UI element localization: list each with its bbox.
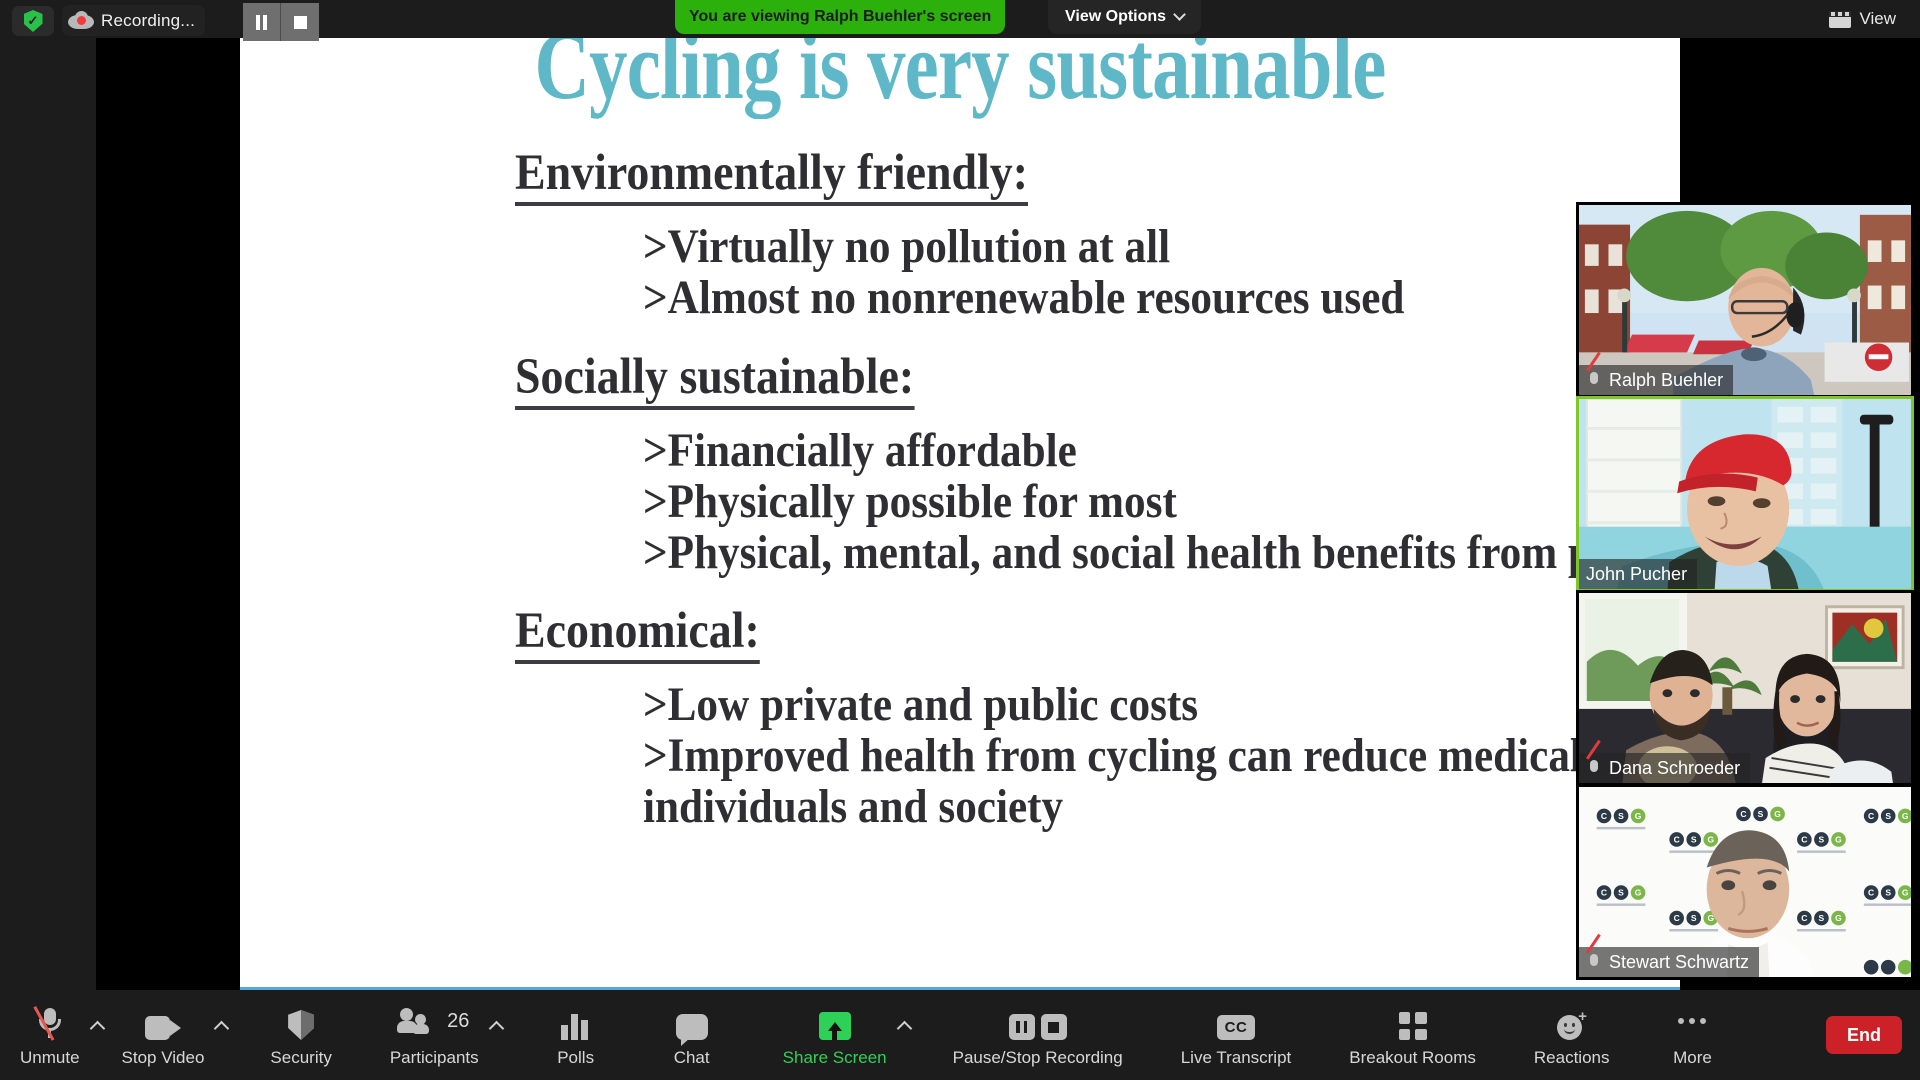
toolbar-label-unmute: Unmute (20, 1048, 80, 1068)
recording-controls[interactable] (243, 3, 319, 41)
bar-chart-icon (561, 1014, 591, 1040)
svg-text:G: G (1902, 811, 1909, 821)
recording-label: Recording... (101, 11, 195, 31)
smiley-plus-icon: + (1557, 1012, 1587, 1040)
chevron-up-icon (214, 1020, 230, 1036)
screen-share-banner: You are viewing Ralph Buehler's screen (675, 0, 1005, 34)
toolbar-button-polls[interactable]: Polls (545, 990, 607, 1080)
svg-text:G: G (1774, 809, 1781, 819)
participant-tile-dana-schroeder[interactable]: Dana Schroeder (1576, 590, 1914, 786)
svg-text:G: G (1902, 888, 1909, 898)
participant-tile-stewart-schwartz[interactable]: C S G C S G C S (1576, 784, 1914, 980)
toolbar-button-reactions[interactable]: + Reactions (1528, 990, 1616, 1080)
participant-name-badge: Dana Schroeder (1579, 753, 1750, 783)
recording-stop-button[interactable] (281, 3, 319, 41)
share-options-caret[interactable] (893, 990, 923, 1080)
toolbar-label-reactions: Reactions (1534, 1048, 1610, 1068)
toolbar-label-pause-stop-recording: Pause/Stop Recording (953, 1048, 1123, 1068)
participant-name: Ralph Buehler (1609, 370, 1723, 391)
slide-heading-economical: Economical: (515, 606, 760, 664)
video-options-caret[interactable] (210, 990, 240, 1080)
share-screen-icon (819, 1012, 851, 1040)
svg-text:C: C (1740, 809, 1746, 819)
participant-name-badge: John Pucher (1579, 559, 1697, 589)
participant-name: Dana Schroeder (1609, 758, 1740, 779)
participant-tile-john-pucher[interactable]: John Pucher (1576, 396, 1914, 592)
svg-text:G: G (1635, 811, 1642, 821)
svg-text:S: S (1618, 888, 1624, 898)
shared-slide: Cycling is very sustainable Environmenta… (240, 0, 1680, 990)
toolbar-label-breakout-rooms: Breakout Rooms (1349, 1048, 1476, 1068)
view-button-label: View (1859, 9, 1896, 29)
slide-body: Environmentally friendly: >Virtually no … (515, 148, 1680, 833)
slide-bullet: >Physical, mental, and social health ben… (643, 528, 1680, 579)
layout-grid-icon (1829, 11, 1851, 28)
pause-stop-icon (1009, 1014, 1067, 1040)
svg-text:C: C (1801, 835, 1807, 845)
participant-tile-ralph-buehler[interactable]: Ralph Buehler (1576, 202, 1914, 398)
camera-icon (145, 1016, 181, 1040)
svg-text:C: C (1868, 888, 1874, 898)
svg-text:C: C (1601, 888, 1607, 898)
toolbar-button-unmute[interactable]: Unmute (14, 990, 86, 1080)
slide-bullet: >Low private and public costs (643, 680, 1680, 731)
end-button-label: End (1847, 1025, 1881, 1046)
svg-text:S: S (1885, 888, 1891, 898)
mic-muted-icon (37, 1006, 63, 1040)
svg-text:S: S (1819, 835, 1825, 845)
svg-text:G: G (1835, 913, 1842, 923)
toolbar-button-participants[interactable]: 26 Participants (384, 990, 485, 1080)
svg-text:C: C (1674, 835, 1680, 845)
toolbar-button-pause-stop-recording[interactable]: Pause/Stop Recording (947, 990, 1129, 1080)
participant-name: John Pucher (1586, 564, 1687, 585)
toolbar-label-share-screen: Share Screen (783, 1048, 887, 1068)
slide-bullet: >Physically possible for most (643, 477, 1680, 528)
toolbar-label-more: More (1673, 1048, 1712, 1068)
closed-caption-icon: CC (1217, 1015, 1255, 1040)
svg-text:S: S (1691, 913, 1697, 923)
toolbar-button-more[interactable]: More (1662, 990, 1724, 1080)
mic-muted-icon (1586, 953, 1603, 972)
toolbar-button-chat[interactable]: Chat (661, 990, 723, 1080)
participant-name-badge: Ralph Buehler (1579, 365, 1733, 395)
view-options-button[interactable]: View Options (1048, 0, 1201, 34)
toolbar-label-chat: Chat (674, 1048, 710, 1068)
toolbar-label-security: Security (270, 1048, 331, 1068)
participant-filmstrip[interactable]: Ralph Buehler (1576, 202, 1914, 978)
slide-bullet: >Virtually no pollution at all (643, 222, 1680, 273)
chevron-up-icon (488, 1020, 504, 1036)
toolbar-label-live-transcript: Live Transcript (1181, 1048, 1292, 1068)
people-icon (399, 1008, 439, 1034)
shield-check-icon (24, 10, 43, 32)
svg-text:G: G (1835, 835, 1842, 845)
audio-options-caret[interactable] (86, 990, 116, 1080)
participant-name-badge: Stewart Schwartz (1579, 947, 1759, 977)
grid-rooms-icon (1399, 1012, 1427, 1040)
screen-share-banner-text: You are viewing Ralph Buehler's screen (689, 8, 991, 26)
slide-heading-social: Socially sustainable: (515, 352, 914, 410)
svg-text:G: G (1707, 835, 1714, 845)
meeting-controls-toolbar: Unmute Stop Video Security 26 Participan… (0, 990, 1920, 1080)
view-layout-button[interactable]: View (1819, 4, 1906, 34)
chat-bubble-icon (676, 1014, 708, 1040)
participants-count: 26 (447, 1010, 469, 1033)
slide-heading-environmental: Environmentally friendly: (515, 148, 1028, 206)
stop-icon (294, 16, 307, 29)
cloud-recording-icon (68, 11, 94, 31)
recording-indicator[interactable]: Recording... (62, 5, 205, 36)
end-meeting-button[interactable]: End (1826, 1016, 1902, 1054)
svg-text:S: S (1691, 835, 1697, 845)
view-options-label: View Options (1065, 8, 1166, 26)
mic-muted-icon (1586, 759, 1603, 778)
shield-icon (288, 1010, 314, 1040)
svg-text:C: C (1868, 811, 1874, 821)
toolbar-label-stop-video: Stop Video (122, 1048, 205, 1068)
svg-text:S: S (1885, 811, 1891, 821)
svg-text:S: S (1618, 811, 1624, 821)
participant-name: Stewart Schwartz (1609, 952, 1749, 973)
svg-text:C: C (1674, 913, 1680, 923)
slide-bullet: >Almost no nonrenewable resources used (643, 273, 1680, 324)
svg-text:C: C (1801, 913, 1807, 923)
pause-icon (255, 15, 268, 30)
participants-options-caret[interactable] (485, 990, 515, 1080)
meeting-top-bar: Recording... You are viewing Ralph Buehl… (0, 0, 1920, 38)
toolbar-button-breakout-rooms[interactable]: Breakout Rooms (1343, 990, 1482, 1080)
toolbar-label-participants: Participants (390, 1048, 479, 1068)
encryption-badge[interactable] (12, 6, 54, 36)
slide-bullet: >Financially affordable (643, 426, 1680, 477)
zoom-meeting-window: Cycling is very sustainable Environmenta… (0, 0, 1920, 1080)
chevron-up-icon (896, 1020, 912, 1036)
mic-muted-icon (1586, 371, 1603, 390)
toolbar-button-share-screen[interactable]: Share Screen (777, 990, 893, 1080)
chevron-up-icon (89, 1020, 105, 1036)
recording-pause-button[interactable] (243, 3, 281, 41)
stage-left-gutter (0, 0, 96, 990)
svg-text:S: S (1758, 809, 1764, 819)
svg-text:G: G (1635, 888, 1642, 898)
toolbar-button-stop-video[interactable]: Stop Video (116, 990, 211, 1080)
toolbar-button-security[interactable]: Security (264, 990, 337, 1080)
toolbar-button-live-transcript[interactable]: CC Live Transcript (1175, 990, 1298, 1080)
svg-text:S: S (1819, 913, 1825, 923)
ellipsis-icon (1678, 1017, 1708, 1025)
svg-text:C: C (1601, 811, 1607, 821)
slide-bullet: >Improved health from cycling can reduce… (643, 731, 1680, 833)
toolbar-label-polls: Polls (557, 1048, 594, 1068)
chevron-down-icon (1173, 8, 1186, 21)
